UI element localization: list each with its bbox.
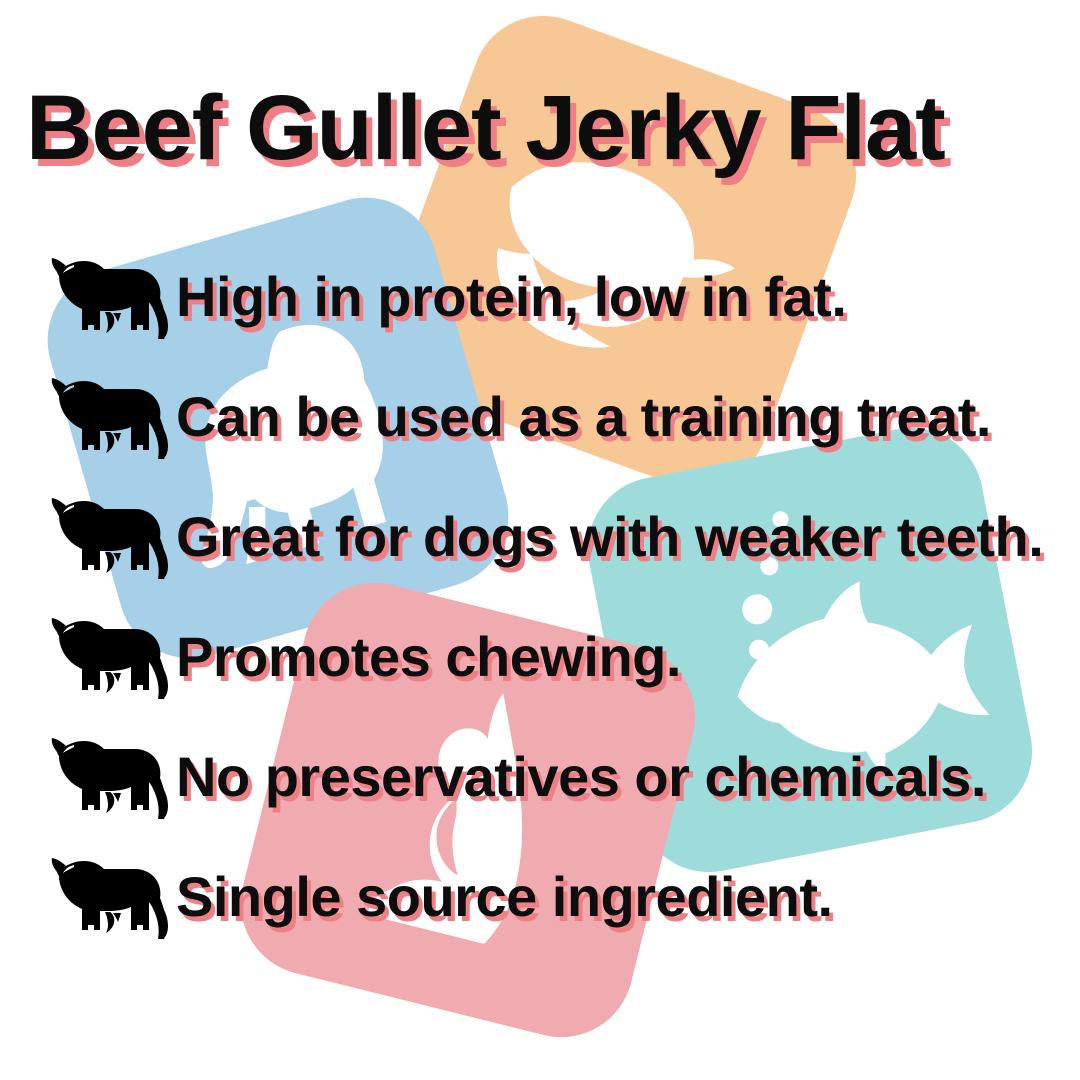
list-item-label: Great for dogs with weaker teeth. bbox=[176, 504, 1043, 569]
list-item: Can be used as a training treat. bbox=[44, 356, 1074, 476]
list-item-label: No preservatives or chemicals. bbox=[176, 744, 986, 809]
list-item: Great for dogs with weaker teeth. bbox=[44, 476, 1074, 596]
cow-icon bbox=[44, 610, 174, 702]
benefits-list: High in protein, low in fat. Can be used… bbox=[44, 236, 1074, 956]
cow-icon bbox=[44, 850, 174, 942]
content-layer: Beef Gullet Jerky Flat High in protein, … bbox=[0, 0, 1080, 1080]
list-item-label: Promotes chewing. bbox=[176, 624, 681, 689]
cow-icon bbox=[44, 730, 174, 822]
list-item-label: Can be used as a training treat. bbox=[176, 384, 991, 449]
cow-icon bbox=[44, 490, 174, 582]
list-item: No preservatives or chemicals. bbox=[44, 716, 1074, 836]
list-item: High in protein, low in fat. bbox=[44, 236, 1074, 356]
list-item: Promotes chewing. bbox=[44, 596, 1074, 716]
page-title: Beef Gullet Jerky Flat bbox=[26, 82, 1066, 174]
cow-icon bbox=[44, 250, 174, 342]
list-item: Single source ingredient. bbox=[44, 836, 1074, 956]
poster-canvas: Beef Gullet Jerky Flat High in protein, … bbox=[0, 0, 1080, 1080]
cow-icon bbox=[44, 370, 174, 462]
list-item-label: High in protein, low in fat. bbox=[176, 264, 846, 329]
list-item-label: Single source ingredient. bbox=[176, 864, 833, 929]
